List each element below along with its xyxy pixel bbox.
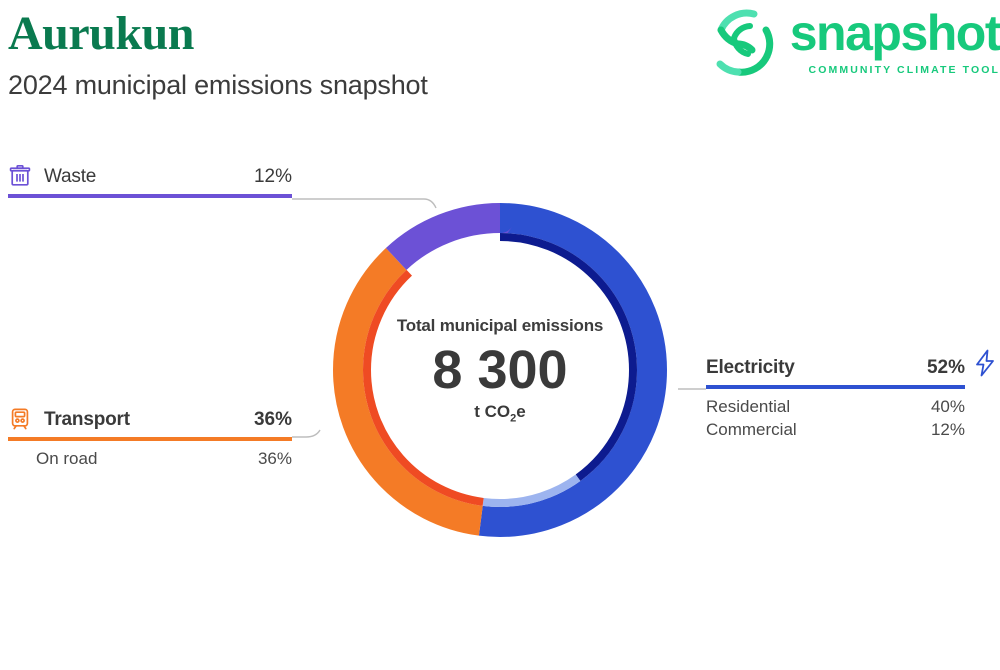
callout-transport-name: Transport xyxy=(44,409,130,431)
callout-waste-bar xyxy=(8,194,292,198)
subitem-name: On road xyxy=(36,448,97,471)
list-item: On road 36% xyxy=(36,448,292,471)
callout-electricity-header-inner: Electricity 52% xyxy=(706,357,965,379)
callout-waste-percent: 12% xyxy=(254,166,292,188)
callout-electricity-subitems: Residential 40% Commercial 12% xyxy=(706,396,965,441)
snapshot-spiral-logo-icon xyxy=(708,4,780,82)
callout-waste[interactable]: Waste 12% xyxy=(8,164,292,198)
subitem-name: Residential xyxy=(706,396,790,419)
callout-electricity[interactable]: Electricity 52% Residential 40% Commerci… xyxy=(706,357,965,441)
list-item: Commercial 12% xyxy=(706,419,965,442)
callout-transport-subitems: On road 36% xyxy=(8,448,292,471)
subitem-percent: 12% xyxy=(931,419,965,442)
callout-waste-name: Waste xyxy=(44,166,96,188)
train-icon xyxy=(8,407,32,431)
donut-svg xyxy=(320,190,680,550)
page-title: Aurukun xyxy=(8,6,194,61)
callout-transport-percent: 36% xyxy=(254,409,292,431)
callout-electricity-bar xyxy=(706,385,965,389)
snapshot-logo: snapshot COMMUNITY CLIMATE TOOL xyxy=(708,4,1000,82)
list-item: Residential 40% xyxy=(706,396,965,419)
subitem-percent: 40% xyxy=(931,396,965,419)
infographic-page: Aurukun 2024 municipal emissions snapsho… xyxy=(0,0,1000,670)
callout-electricity-percent: 52% xyxy=(927,357,965,379)
callout-transport[interactable]: Transport 36% On road 36% xyxy=(8,407,292,471)
lightning-bolt-icon xyxy=(974,349,996,377)
subitem-percent: 36% xyxy=(258,448,292,471)
subitem-name: Commercial xyxy=(706,419,797,442)
logo-wordmark: snapshot xyxy=(790,8,1000,58)
callout-electricity-name: Electricity xyxy=(706,357,795,379)
logo-tagline: COMMUNITY CLIMATE TOOL xyxy=(809,64,1000,76)
trash-bin-icon xyxy=(8,164,32,188)
callout-waste-header: Waste 12% xyxy=(8,164,292,188)
callout-transport-bar xyxy=(8,437,292,441)
page-subtitle: 2024 municipal emissions snapshot xyxy=(8,70,428,101)
callout-electricity-header: Electricity 52% xyxy=(706,357,965,379)
callout-transport-header: Transport 36% xyxy=(8,407,292,431)
emissions-donut-chart: Total municipal emissions 8 300 t CO2e xyxy=(320,190,680,550)
